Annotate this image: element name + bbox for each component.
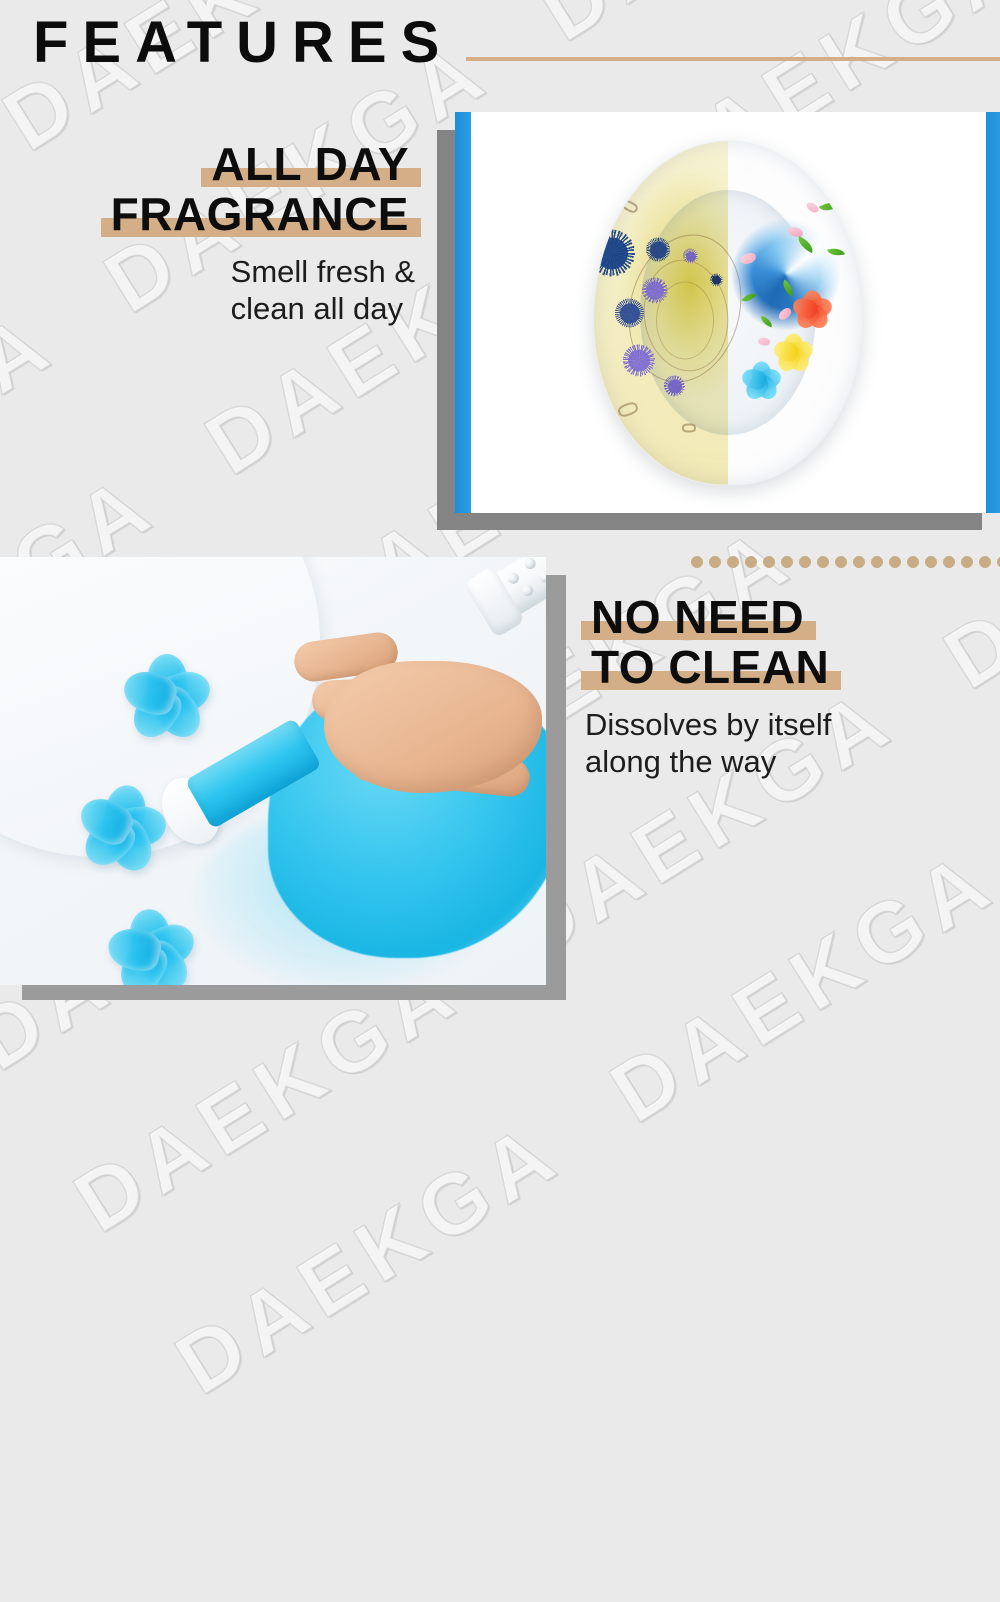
blue-accent-bar-left [455,112,471,513]
germ-icon [620,303,640,323]
page-title: FEATURES [33,14,453,72]
germ-icon [646,281,664,299]
body-line: clean all day [231,291,403,326]
petal-icon [757,336,771,347]
germ-icon [628,349,650,371]
germ-icon [596,237,628,269]
germ-icon [686,251,696,261]
gel-stamp-flower-icon [118,649,216,747]
title-rule [466,57,1000,61]
petal-icon [810,153,836,175]
headline-line: NO NEED [585,592,810,642]
blue-accent-bar-right [986,112,1000,513]
feature-image-card-fragrance [437,112,1000,530]
germ-icon [712,275,721,284]
feature-image-card-no-clean [0,557,566,1000]
clean-side [728,141,862,484]
feature-headline-no-clean: NO NEED TO CLEAN [585,592,835,692]
body-line: along the way [585,744,776,779]
headline-line: TO CLEAN [585,642,835,692]
gel-stamp-flower-icon [104,905,200,985]
grime-speck [682,423,696,432]
applicator-handle [447,557,546,650]
leaf-icon [818,197,839,215]
germ-icon [610,163,636,189]
watermark-text: DAEKGA [159,1101,578,1414]
toilet-seat-illustration [593,140,863,485]
gel-stamp-flower-icon [68,775,176,883]
hand-holding-dispenser [290,565,546,800]
feature-body-fragrance: Smell fresh & clean all day [231,253,415,327]
gel-applicator-photo [0,557,546,985]
dotted-divider [688,556,1000,568]
germ-icon [650,241,667,258]
feature-body-no-clean: Dissolves by itself along the way [585,706,831,780]
feature-headline-fragrance: ALL DAY FRAGRANCE [105,139,415,239]
germ-icon [668,379,682,393]
toilet-seat-photo [455,112,1000,513]
body-line: Dissolves by itself [585,707,831,742]
headline-line: FRAGRANCE [105,189,415,239]
headline-line: ALL DAY [205,139,415,189]
gel-flower-red-icon [790,287,836,333]
body-line: Smell fresh & [231,254,415,289]
gel-flower-blue-icon [740,359,784,403]
